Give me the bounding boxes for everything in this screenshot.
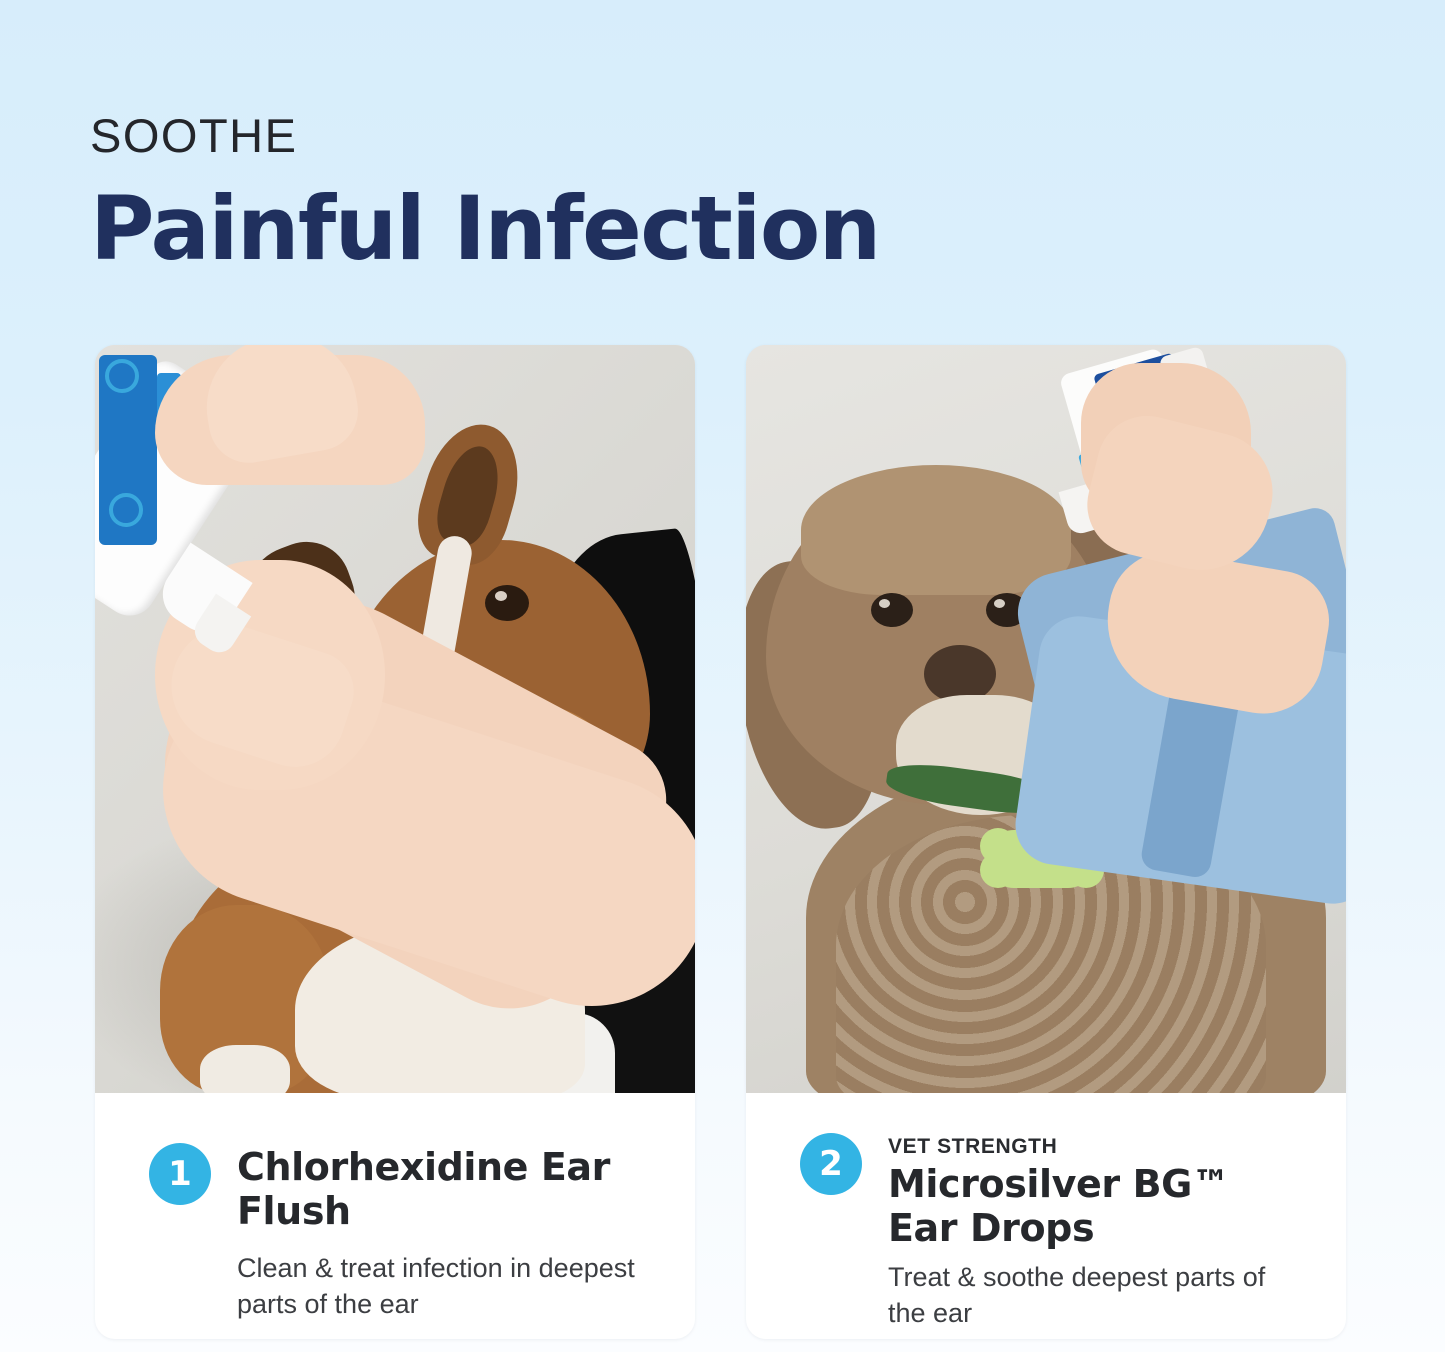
dog-eye-glint-right [495,591,507,601]
dog-top-fur [801,465,1071,595]
dog-paw-tip [200,1045,290,1093]
header-eyebrow: SOOTHE [90,112,1350,159]
caption-text-2: VET STRENGTH Microsilver BG™ Ear Drops T… [888,1133,1300,1339]
card-caption-1: 1 Chlorhexidine Ear Flush Clean & treat … [95,1093,695,1339]
page-header: SOOTHE Painful Infection [90,112,1350,275]
product-step-cards: 1 Chlorhexidine Ear Flush Clean & treat … [95,345,1350,1339]
step-badge-1: 1 [149,1143,211,1205]
dog-eye-left [871,593,913,627]
page-title: Painful Infection [90,183,1350,275]
product-photo-1 [95,345,695,1093]
bottle-badge-icon [109,493,143,527]
dog-eye-right [485,585,529,621]
product-name-2: Microsilver BG™ Ear Drops [888,1162,1300,1251]
caption-text-1: Chlorhexidine Ear Flush Clean & treat in… [237,1143,649,1339]
bottle-seal-icon [105,359,139,393]
step-badge-2: 2 [800,1133,862,1195]
product-step-card-1[interactable]: 1 Chlorhexidine Ear Flush Clean & treat … [95,345,695,1339]
product-description-2: Treat & soothe deepest parts of the ear [888,1259,1300,1331]
card-caption-2: 2 VET STRENGTH Microsilver BG™ Ear Drops… [746,1093,1346,1339]
product-description-1: Clean & treat infection in deepest parts… [237,1250,649,1322]
product-photo-2 [746,345,1346,1093]
product-name-1: Chlorhexidine Ear Flush [237,1145,649,1234]
product-step-card-2[interactable]: 2 VET STRENGTH Microsilver BG™ Ear Drops… [746,345,1346,1339]
dog-eye-glint-left [879,599,890,608]
dog-eye-glint-right [994,599,1005,608]
product-kicker-2: VET STRENGTH [888,1135,1300,1159]
